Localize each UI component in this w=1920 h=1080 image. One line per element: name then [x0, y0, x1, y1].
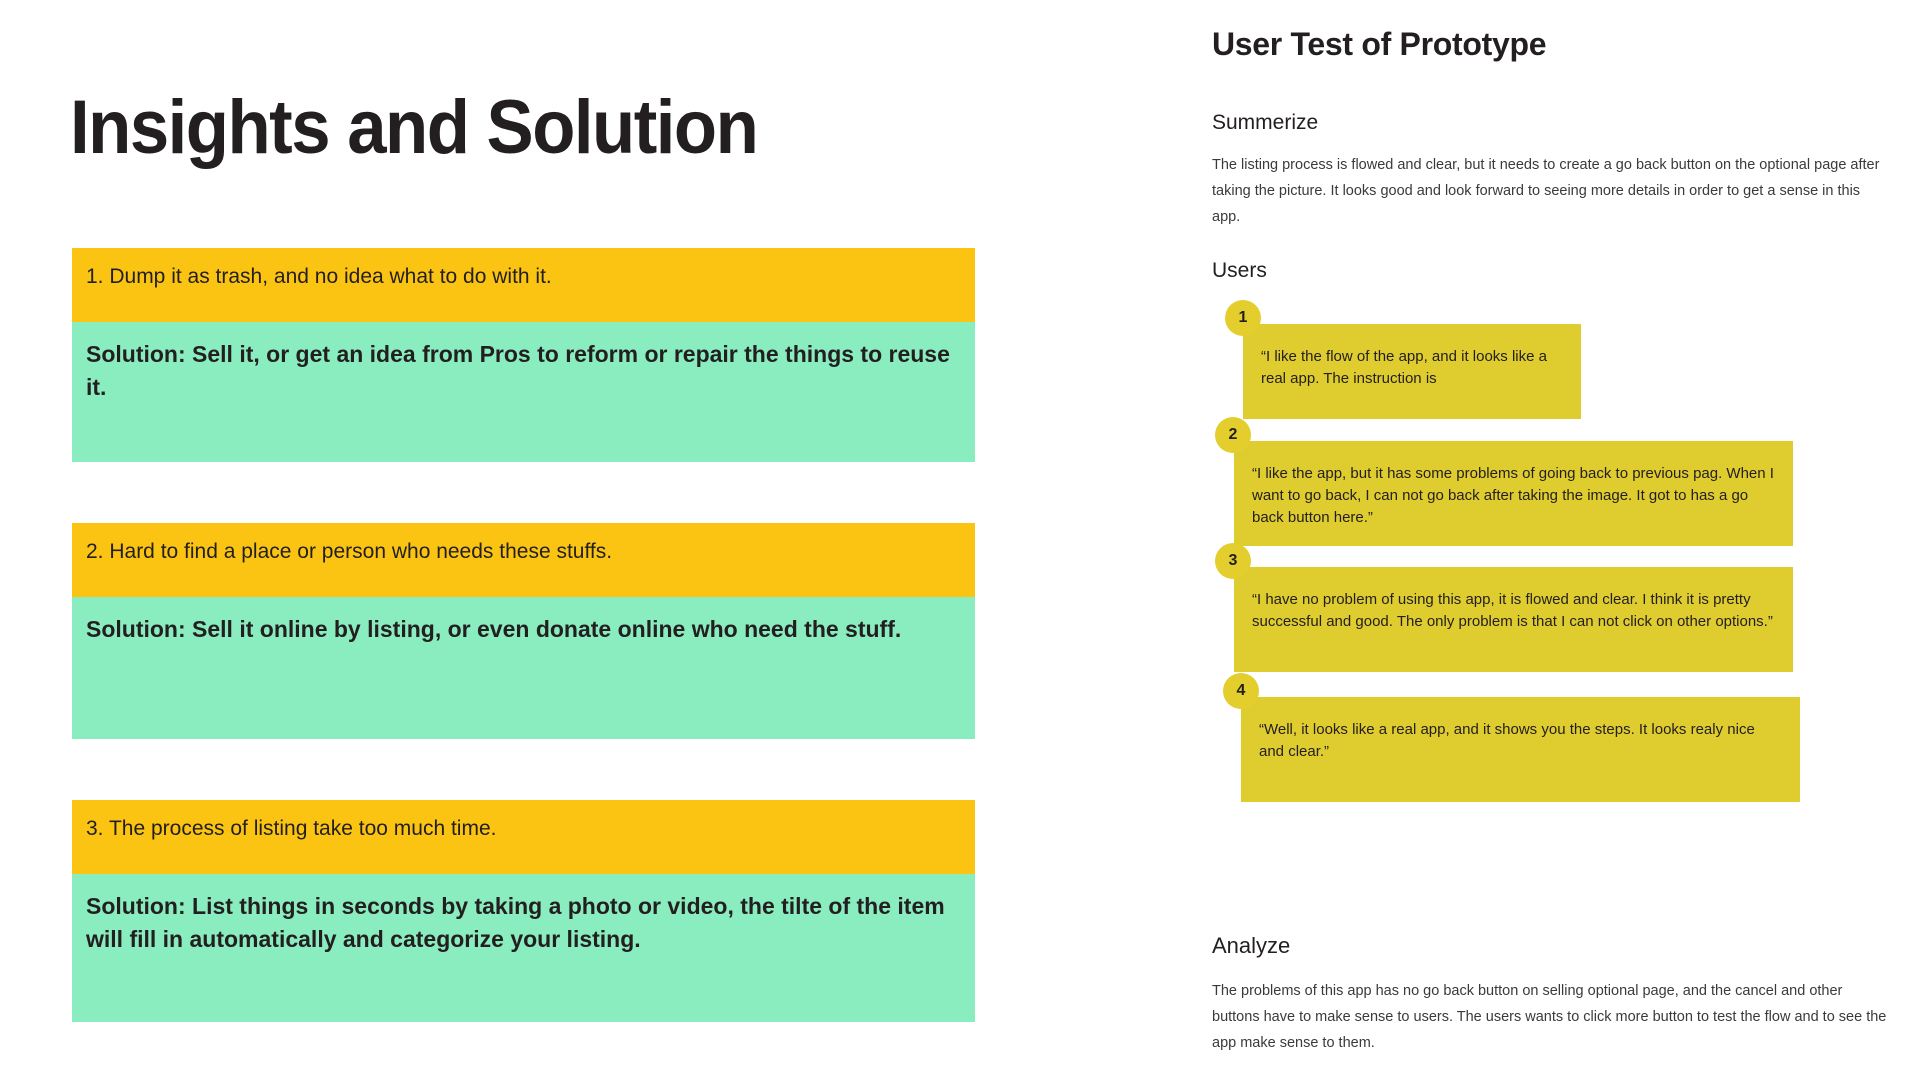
- user-quote-card-2: “I like the app, but it has some problem…: [1234, 441, 1793, 546]
- insight-problem-1: 1. Dump it as trash, and no idea what to…: [72, 248, 975, 322]
- user-number-badge-3: 3: [1215, 543, 1251, 579]
- user-test-panel: User Test of Prototype Summerize The lis…: [1210, 0, 1920, 1080]
- insights-panel: Insights and Solution 1. Dump it as tras…: [0, 0, 1010, 1080]
- insight-problem-3: 3. The process of listing take too much …: [72, 800, 975, 874]
- summerize-heading: Summerize: [1212, 110, 1318, 136]
- page-title: Insights and Solution: [70, 86, 757, 170]
- insight-problem-2: 2. Hard to find a place or person who ne…: [72, 523, 975, 597]
- user-number-badge-1: 1: [1225, 300, 1261, 336]
- analyze-body: The problems of this app has no go back …: [1212, 978, 1892, 1056]
- insight-solution-1: Solution: Sell it, or get an idea from P…: [72, 322, 975, 462]
- user-quote-card-3: “I have no problem of using this app, it…: [1234, 567, 1793, 672]
- user-quote-card-4: “Well, it looks like a real app, and it …: [1241, 697, 1800, 802]
- users-heading: Users: [1212, 258, 1267, 284]
- user-test-title: User Test of Prototype: [1212, 24, 1546, 64]
- insight-block: 1. Dump it as trash, and no idea what to…: [72, 248, 975, 462]
- analyze-heading: Analyze: [1212, 932, 1290, 960]
- insight-block-list: 1. Dump it as trash, and no idea what to…: [72, 248, 975, 1022]
- user-number-badge-4: 4: [1223, 673, 1259, 709]
- user-number-badge-2: 2: [1215, 417, 1251, 453]
- user-quote-card-1: “I like the flow of the app, and it look…: [1243, 324, 1581, 419]
- insight-solution-2: Solution: Sell it online by listing, or …: [72, 597, 975, 739]
- insight-block: 2. Hard to find a place or person who ne…: [72, 523, 975, 739]
- summerize-body: The listing process is flowed and clear,…: [1212, 152, 1884, 230]
- insight-solution-3: Solution: List things in seconds by taki…: [72, 874, 975, 1022]
- insight-block: 3. The process of listing take too much …: [72, 800, 975, 1022]
